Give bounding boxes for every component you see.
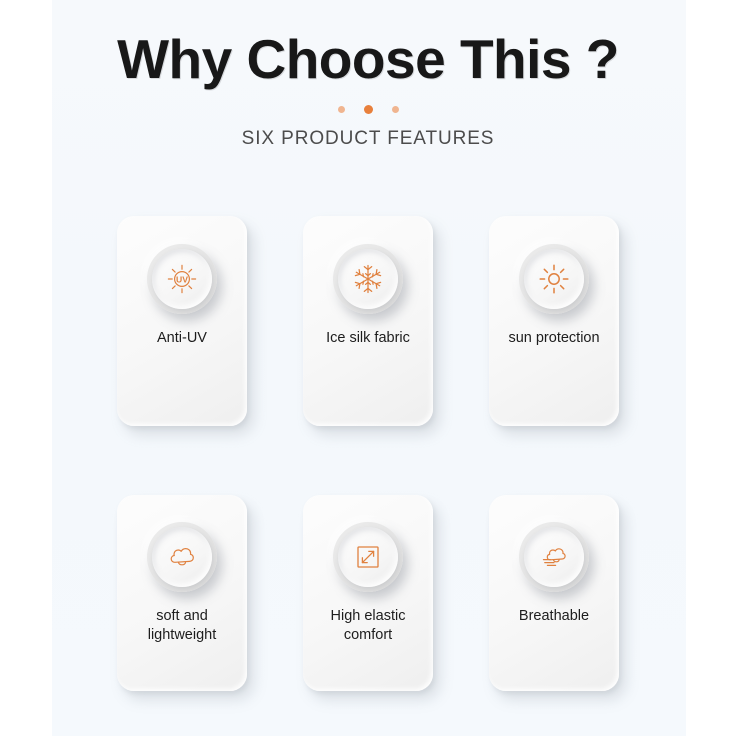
feature-card-anti-uv[interactable]: UV Anti-UV (117, 216, 247, 426)
page-title: Why Choose This ? (0, 0, 736, 89)
page-subtitle: SIX PRODUCT FEATURES (0, 115, 736, 150)
feature-label: Anti-UV (122, 329, 242, 348)
icon-well (333, 522, 403, 592)
icon-disc (338, 527, 398, 587)
feature-label: Breathable (494, 607, 614, 626)
icon-disc: UV (152, 249, 212, 309)
icon-disc (338, 249, 398, 309)
icon-well (147, 522, 217, 592)
icon-well (519, 522, 589, 592)
feature-label: sun protection (494, 329, 614, 348)
feature-showcase-page: Why Choose This ? SIX PRODUCT FEATURES (0, 0, 736, 736)
feature-card-breathable[interactable]: Breathable (489, 495, 619, 691)
dot-right-icon (392, 106, 399, 113)
feature-card-ice-silk-fabric[interactable]: Ice silk fabric (303, 216, 433, 426)
icon-disc (152, 527, 212, 587)
breathable-wind-icon (537, 540, 571, 574)
dot-center-icon (364, 105, 373, 114)
feature-card-high-elastic-comfort[interactable]: High elastic comfort (303, 495, 433, 691)
sun-icon (537, 262, 571, 296)
feature-card-soft-and-lightweight[interactable]: soft and lightweight (117, 495, 247, 691)
icon-disc (524, 249, 584, 309)
icon-well: UV (147, 244, 217, 314)
dot-separator (0, 103, 736, 115)
feature-label: soft and lightweight (122, 607, 242, 646)
sun-uv-icon: UV (165, 262, 199, 296)
icon-well (519, 244, 589, 314)
stretch-arrow-icon (351, 540, 385, 574)
snowflake-icon (351, 262, 385, 296)
feature-label: Ice silk fabric (308, 329, 428, 348)
icon-disc (524, 527, 584, 587)
feature-row-bottom: soft and lightweight (0, 495, 736, 691)
icon-well (333, 244, 403, 314)
cloud-icon (165, 540, 199, 574)
dot-left-icon (338, 106, 345, 113)
feature-card-sun-protection[interactable]: sun protection (489, 216, 619, 426)
page-header: Why Choose This ? SIX PRODUCT FEATURES (0, 0, 736, 150)
svg-text:UV: UV (176, 274, 188, 284)
feature-row-top: UV Anti-UV (0, 216, 736, 426)
feature-label: High elastic comfort (308, 607, 428, 646)
feature-grid: UV Anti-UV (0, 216, 736, 691)
